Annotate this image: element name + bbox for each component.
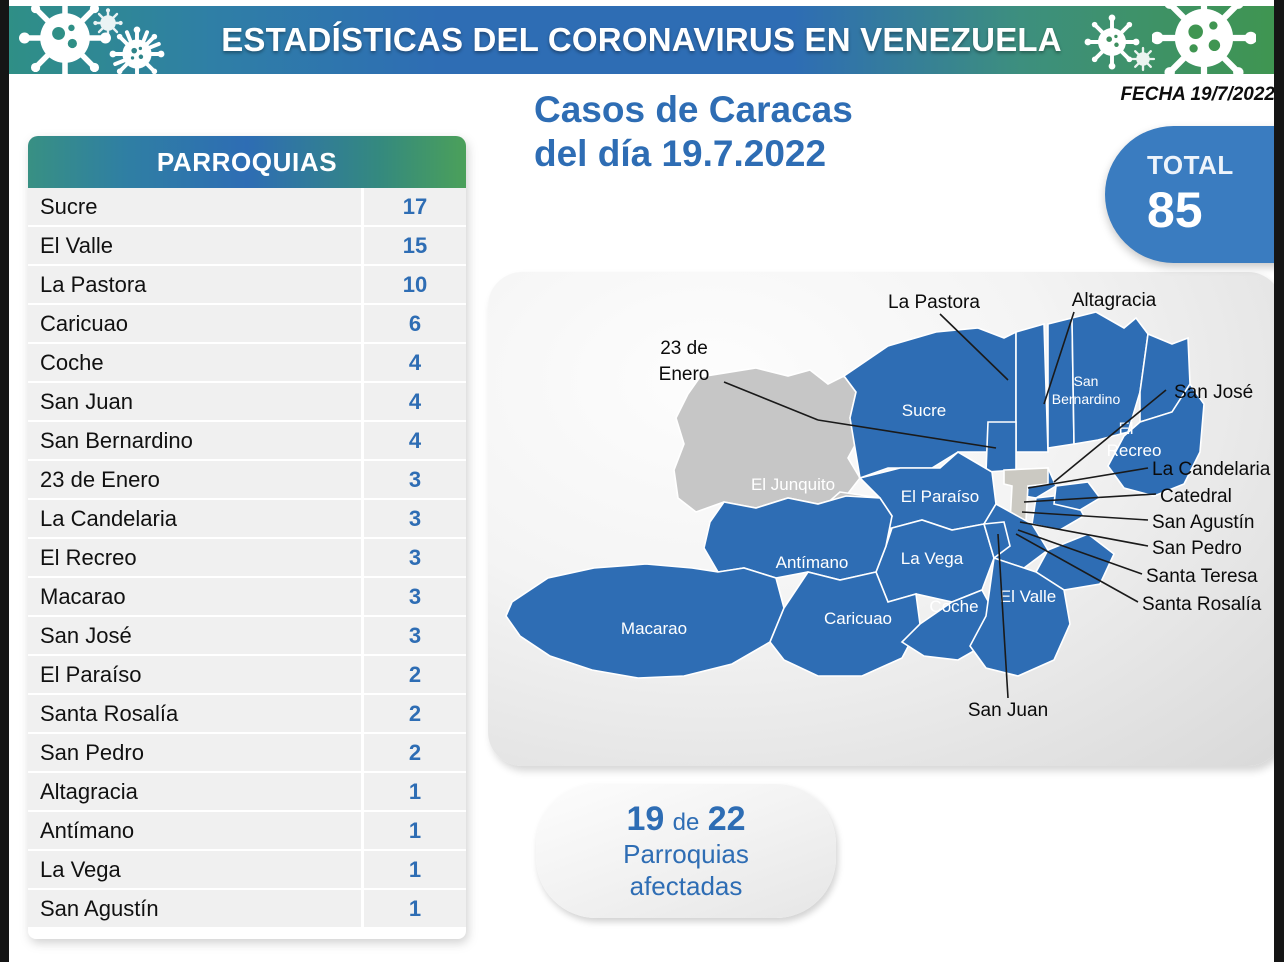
table-row: Sucre17: [28, 188, 466, 225]
table-cell-casos: 2: [364, 695, 466, 732]
total-badge: TOTAL 85: [1105, 126, 1284, 263]
callout-la-pastora: La Pastora: [888, 292, 980, 313]
map-label-san-bernardino-line1: San: [1074, 373, 1099, 389]
summary-pill: 19 de 22 Parroquias afectadas: [536, 784, 836, 918]
summary-line3: afectadas: [630, 871, 743, 902]
total-label: TOTAL: [1147, 152, 1234, 178]
map-label-la-vega: La Vega: [901, 549, 964, 568]
table-cell-parroquia: El Paraíso: [28, 656, 361, 693]
table-cell-parroquia: San Bernardino: [28, 422, 361, 459]
table-cell-parroquia: Caricuao: [28, 305, 361, 342]
summary-total: 22: [708, 800, 746, 838]
frame-edge-left: [0, 0, 9, 962]
table-body: Sucre17El Valle15La Pastora10Caricuao6Co…: [28, 188, 466, 939]
table-cell-casos: 1: [364, 812, 466, 849]
table-cell-casos: 3: [364, 617, 466, 654]
table-cell-casos: 3: [364, 461, 466, 498]
page-title-line1: Casos de Caracas: [534, 88, 1054, 132]
callout-23-de-enero-line2: Enero: [659, 364, 710, 385]
table-row: Santa Rosalía2: [28, 695, 466, 732]
table-row: San Bernardino4: [28, 422, 466, 459]
table-cell-parroquia: La Candelaria: [28, 500, 361, 537]
infographic-canvas: ESTADÍSTICAS DEL CORONAVIRUS EN VENEZUEL…: [0, 0, 1284, 962]
table-row: San Agustín1: [28, 890, 466, 927]
table-header: PARROQUIAS: [28, 136, 466, 188]
parroquias-table: PARROQUIAS Sucre17El Valle15La Pastora10…: [28, 136, 466, 939]
table-cell-parroquia: Santa Rosalía: [28, 695, 361, 732]
total-value: 85: [1147, 184, 1203, 237]
frame-edge-right: [1274, 0, 1284, 962]
callout-san-jose: San José: [1174, 382, 1253, 403]
callout-catedral: Catedral: [1160, 486, 1232, 507]
banner-title: ESTADÍSTICAS DEL CORONAVIRUS EN VENEZUEL…: [9, 6, 1274, 74]
callout-la-candelaria: La Candelaria: [1152, 459, 1271, 480]
table-row: La Pastora10: [28, 266, 466, 303]
map-label-el-junquito: El Junquito: [751, 475, 835, 494]
page-title-line2: del día 19.7.2022: [534, 132, 1054, 176]
table-row: El Valle15: [28, 227, 466, 264]
callout-altagracia: Altagracia: [1072, 290, 1157, 311]
map-label-el-recreo-line2: Recreo: [1107, 441, 1162, 460]
date-stamp: FECHA 19/7/2022: [1063, 84, 1275, 106]
map-label-macarao: Macarao: [621, 619, 687, 638]
table-cell-parroquia: Macarao: [28, 578, 361, 615]
table-row: Caricuao6: [28, 305, 466, 342]
table-row: El Paraíso2: [28, 656, 466, 693]
region-altagracia: [1048, 318, 1074, 448]
table-row: San Pedro2: [28, 734, 466, 771]
table-row: San José3: [28, 617, 466, 654]
header-banner: ESTADÍSTICAS DEL CORONAVIRUS EN VENEZUEL…: [9, 6, 1274, 74]
summary-affected: 19: [626, 800, 664, 838]
map-label-san-bernardino-line2: Bernardino: [1052, 391, 1121, 407]
table-cell-casos: 2: [364, 734, 466, 771]
table-cell-parroquia: Antímano: [28, 812, 361, 849]
table-cell-casos: 1: [364, 890, 466, 927]
region-santa-teresa: [1054, 482, 1100, 510]
table-row: Altagracia1: [28, 773, 466, 810]
callout-santa-teresa: Santa Teresa: [1146, 566, 1258, 587]
table-cell-parroquia: El Recreo: [28, 539, 361, 576]
table-cell-casos: 4: [364, 383, 466, 420]
map-label-antimano: Antímano: [776, 553, 849, 572]
table-cell-casos: 3: [364, 500, 466, 537]
callout-san-agustin: San Agustín: [1152, 512, 1254, 533]
summary-ratio: 19 de 22: [626, 800, 745, 839]
table-cell-casos: 17: [364, 188, 466, 225]
table-cell-casos: 4: [364, 422, 466, 459]
table-cell-parroquia: Coche: [28, 344, 361, 381]
map-label-coche: Coche: [929, 597, 978, 616]
table-row: Macarao3: [28, 578, 466, 615]
page-title: Casos de Caracas del día 19.7.2022: [534, 88, 1054, 175]
table-cell-casos: 4: [364, 344, 466, 381]
table-cell-casos: 2: [364, 656, 466, 693]
callout-san-juan: San Juan: [968, 700, 1048, 721]
map-label-caricuao: Caricuao: [824, 609, 892, 628]
table-row: La Candelaria3: [28, 500, 466, 537]
map-label-sucre: Sucre: [902, 401, 946, 420]
region-la-pastora: [1016, 324, 1048, 452]
table-cell-casos: 15: [364, 227, 466, 264]
table-cell-casos: 10: [364, 266, 466, 303]
table-row: Antímano1: [28, 812, 466, 849]
summary-line2: Parroquias: [623, 839, 749, 870]
map-label-el-paraiso: El Paraíso: [901, 487, 979, 506]
table-cell-parroquia: 23 de Enero: [28, 461, 361, 498]
caracas-parish-map: El Junquito Sucre San Bernardino El Recr…: [488, 272, 1284, 772]
table-row: 23 de Enero3: [28, 461, 466, 498]
table-cell-casos: 3: [364, 578, 466, 615]
table-cell-parroquia: La Vega: [28, 851, 361, 888]
table-cell-parroquia: San Juan: [28, 383, 361, 420]
table-cell-casos: 1: [364, 773, 466, 810]
table-row: La Vega1: [28, 851, 466, 888]
table-cell-casos: 3: [364, 539, 466, 576]
table-row: San Juan4: [28, 383, 466, 420]
table-cell-parroquia: El Valle: [28, 227, 361, 264]
callout-23-de-enero-line1: 23 de: [660, 338, 708, 359]
callout-santa-rosalia: Santa Rosalía: [1142, 594, 1262, 615]
map-label-el-valle: El Valle: [1000, 587, 1056, 606]
table-row: Coche4: [28, 344, 466, 381]
table-row: El Recreo3: [28, 539, 466, 576]
table-cell-parroquia: Altagracia: [28, 773, 361, 810]
table-cell-casos: 6: [364, 305, 466, 342]
table-cell-casos: 1: [364, 851, 466, 888]
table-cell-parroquia: La Pastora: [28, 266, 361, 303]
callout-san-pedro: San Pedro: [1152, 538, 1242, 559]
table-cell-parroquia: San Agustín: [28, 890, 361, 927]
table-cell-parroquia: San José: [28, 617, 361, 654]
summary-connector: de: [673, 809, 700, 836]
table-cell-parroquia: San Pedro: [28, 734, 361, 771]
table-cell-parroquia: Sucre: [28, 188, 361, 225]
